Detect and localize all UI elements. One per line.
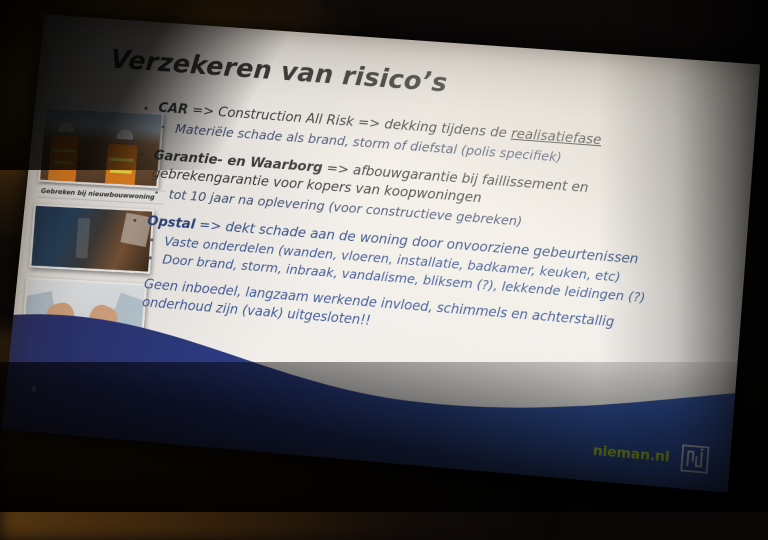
- beam-shape: [75, 218, 90, 259]
- bullet-opstal-lead: Opstal: [147, 213, 196, 232]
- room-shadow-right: [598, 0, 768, 512]
- room-shadow-top-left: [0, 0, 300, 170]
